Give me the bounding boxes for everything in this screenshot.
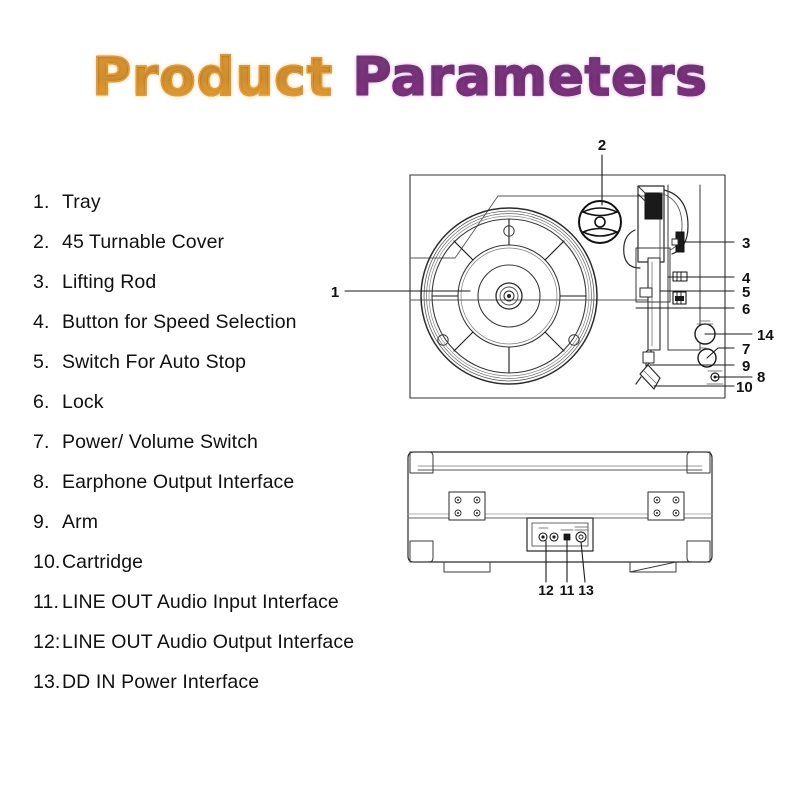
- page-title: Product Parameters: [0, 48, 800, 112]
- callout-6: 6: [742, 301, 750, 318]
- tonearm-and-cartridge: [636, 350, 660, 389]
- list-item-label: Switch For Auto Stop: [62, 351, 246, 373]
- list-item-label: LINE OUT Audio Input Interface: [62, 591, 339, 613]
- list-item-number: 11.: [33, 582, 62, 622]
- list-item-number: 7.: [33, 422, 62, 462]
- list-item: 11.LINE OUT Audio Input Interface: [33, 582, 503, 622]
- list-item-label: Lifting Rod: [62, 271, 156, 293]
- list-item: 12:LINE OUT Audio Output Interface: [33, 622, 503, 662]
- list-item-label: Earphone Output Interface: [62, 471, 294, 493]
- callout-2: 2: [598, 137, 606, 154]
- callout-12: 12: [538, 582, 554, 598]
- callout-11: 11: [560, 582, 575, 598]
- list-item-number: 4.: [33, 302, 62, 342]
- callout-13: 13: [578, 582, 594, 598]
- list-item: 2.45 Turnable Cover: [33, 222, 503, 262]
- list-item-label: DD IN Power Interface: [62, 671, 259, 693]
- list-item-number: 2.: [33, 222, 62, 262]
- list-item-label: Tray: [62, 191, 101, 213]
- list-item: 4.Button for Speed Selection: [33, 302, 503, 342]
- list-item: 7.Power/ Volume Switch: [33, 422, 503, 462]
- list-item-label: 45 Turnable Cover: [62, 231, 224, 253]
- list-item-number: 8.: [33, 462, 62, 502]
- list-item: 3.Lifting Rod: [33, 262, 503, 302]
- callout-10: 10: [736, 379, 753, 396]
- list-item-number: 6.: [33, 382, 62, 422]
- connector-panel: [527, 518, 593, 551]
- list-item-label: Arm: [62, 511, 98, 533]
- list-item-number: 9.: [33, 502, 62, 542]
- callout-8: 8: [757, 369, 765, 386]
- list-item-number: 1.: [33, 182, 62, 222]
- list-item: 6.Lock: [33, 382, 503, 422]
- callout-3: 3: [742, 235, 750, 252]
- callout-7: 7: [742, 341, 750, 358]
- title-part-product: Product: [92, 47, 352, 108]
- list-item-label: Cartridge: [62, 551, 143, 573]
- callout-4: 4: [742, 270, 751, 287]
- list-item: 8.Earphone Output Interface: [33, 462, 503, 502]
- control-knobs: [695, 321, 723, 384]
- callout-9: 9: [742, 358, 750, 375]
- list-item-number: 10.: [33, 542, 62, 582]
- list-item: 10.Cartridge: [33, 542, 503, 582]
- parameter-list: 1.Tray 2.45 Turnable Cover 3.Lifting Rod…: [33, 182, 503, 702]
- list-item-number: 5.: [33, 342, 62, 382]
- bottom-leader-lines: [546, 540, 585, 582]
- tonearm-controls: [672, 232, 687, 304]
- list-item: 9.Arm: [33, 502, 503, 542]
- list-item-label: Lock: [62, 391, 104, 413]
- title-part-parameters: Parameters: [353, 47, 708, 108]
- list-item: 13.DD IN Power Interface: [33, 662, 503, 702]
- list-item-label: Power/ Volume Switch: [62, 431, 258, 453]
- adapter-45-cover: [579, 201, 621, 243]
- list-item-number: 12:: [33, 622, 62, 662]
- list-item: 5.Switch For Auto Stop: [33, 342, 503, 382]
- list-item-label: LINE OUT Audio Output Interface: [62, 631, 354, 653]
- list-item: 1.Tray: [33, 182, 503, 222]
- list-item-number: 13.: [33, 662, 62, 702]
- list-item-number: 3.: [33, 262, 62, 302]
- list-item-label: Button for Speed Selection: [62, 311, 297, 333]
- callout-5: 5: [742, 284, 750, 301]
- tonearm-assembly: [624, 185, 700, 350]
- product-parameters-page: Product Parameters 1.Tray 2.45 Turnable …: [0, 0, 800, 800]
- callout-14: 14: [757, 327, 774, 344]
